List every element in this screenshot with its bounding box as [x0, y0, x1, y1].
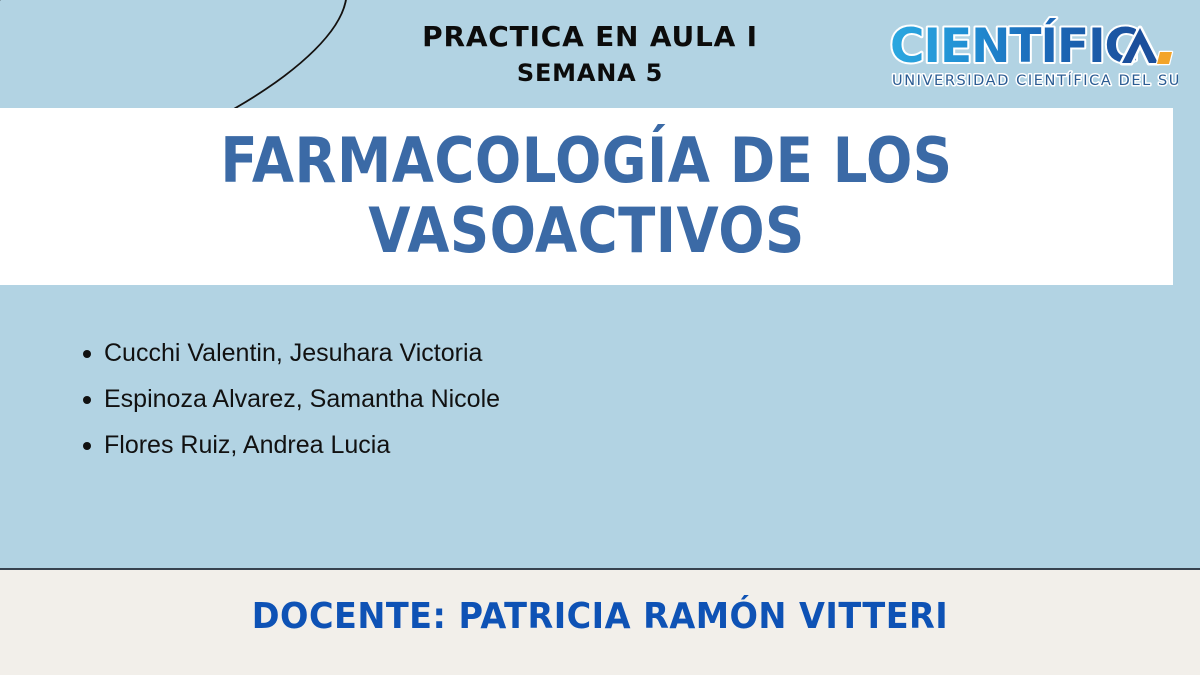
course-title: PRACTICA EN AULA I [290, 20, 890, 53]
slide-title-line-2: VASOACTIVOS [70, 196, 1102, 266]
list-item: Espinoza Alvarez, Samantha Nicole [70, 387, 500, 412]
author-list: Cucchi Valentin, Jesuhara Victoria Espin… [70, 341, 500, 479]
list-item: Flores Ruiz, Andrea Lucia [70, 433, 500, 458]
logo-tagline-group: UNIVERSIDAD CIENTÍFICA DEL SUR UNIVERSID… [892, 72, 1178, 89]
list-item: Cucchi Valentin, Jesuhara Victoria [70, 341, 500, 366]
slide-title: FARMACOLOGÍA DE LOS VASOACTIVOS [70, 126, 1102, 266]
week-label: SEMANA 5 [290, 58, 890, 89]
presentation-slide: PRACTICA EN AULA I SEMANA 5 CIENTÍFIC CI… [0, 0, 1200, 675]
slide-header: PRACTICA EN AULA I SEMANA 5 CIENTÍFIC CI… [0, 0, 1200, 108]
logo-wordmark-group: CIENTÍFIC CIENTÍFIC [890, 19, 1138, 74]
header-title-group: PRACTICA EN AULA I SEMANA 5 [290, 20, 890, 89]
slide-body: Cucchi Valentin, Jesuhara Victoria Espin… [0, 285, 1200, 569]
logo-accent-dot-icon [1157, 52, 1172, 64]
instructor-label: DOCENTE: PATRICIA RAMÓN VITTERI [42, 596, 1158, 637]
svg-text:UNIVERSIDAD CIENTÍFICA DEL SUR: UNIVERSIDAD CIENTÍFICA DEL SUR [892, 72, 1178, 89]
svg-text:CIENTÍFIC: CIENTÍFIC [890, 19, 1138, 74]
title-band: FARMACOLOGÍA DE LOS VASOACTIVOS [0, 108, 1173, 285]
slide-title-line-1: FARMACOLOGÍA DE LOS [70, 126, 1102, 196]
slide-footer: DOCENTE: PATRICIA RAMÓN VITTERI [0, 570, 1200, 675]
university-logo: CIENTÍFIC CIENTÍFIC UNIVERSIDAD CIENTÍFI… [888, 14, 1178, 98]
